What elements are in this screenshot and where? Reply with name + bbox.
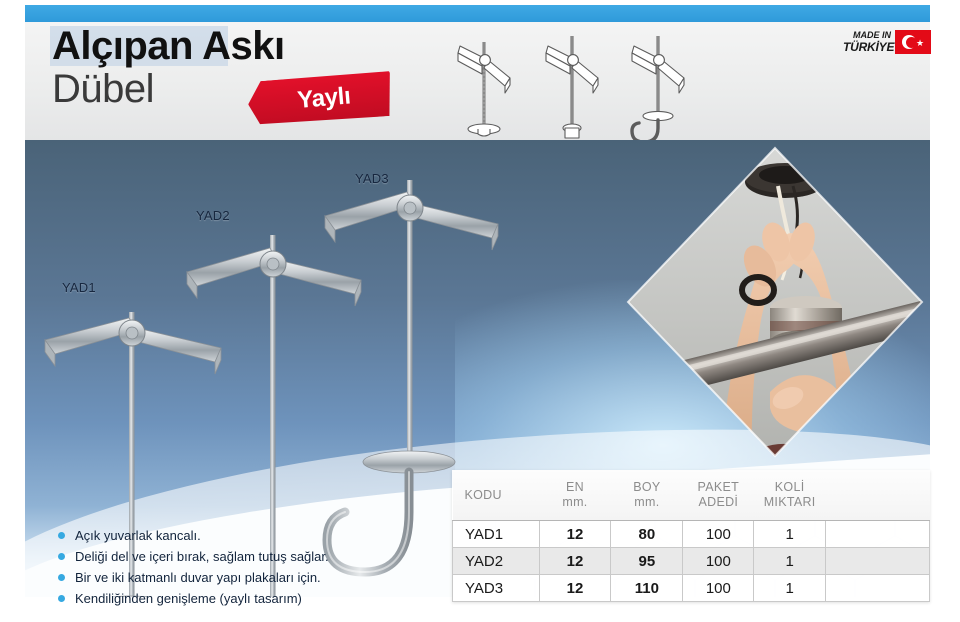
bullet-dot-icon [58,574,65,581]
table-header-row: KODU EN mm. BOY mm. PAKET ADEDİ KOLİ MIK… [453,470,930,521]
cell-koli: 1 [754,521,826,548]
col-header-koli-line2: MIKTARI [764,495,816,509]
feature-list: Açık yuvarlak kancalı. Deliği del ve içe… [58,527,458,611]
cell-paket: 100 [683,548,754,575]
feature-text: Açık yuvarlak kancalı. [75,527,201,544]
page-title-line2: Dübel [52,68,154,110]
cell-koli: 1 [754,548,826,575]
cell-kodu: YAD3 [453,575,540,602]
col-header-kodu: KODU [453,470,540,521]
cell-paket: 100 [683,575,754,602]
cell-koli: 1 [754,575,826,602]
table-row: YAD2 12 95 100 1 [453,548,930,575]
made-in-line2: TÜRKİYE [843,41,891,53]
cell-boy: 80 [611,521,683,548]
cell-paket: 100 [683,521,754,548]
feature-text: Bir ve iki katmanlı duvar yapı plakaları… [75,569,321,586]
col-header-boy: BOY mm. [611,470,683,521]
cell-kodu: YAD1 [453,521,540,548]
col-header-paket-line2: ADEDİ [698,495,738,509]
list-item: Kendiliğinden genişleme (yaylı tasarım) [58,590,458,608]
list-item: Deliği del ve içeri bırak, sağlam tutuş … [58,548,458,566]
flag-star-shape: ★ [916,39,924,48]
cell-blank [825,521,929,548]
col-header-en: EN mm. [539,470,611,521]
made-in-turkiye-badge: MADE IN TÜRKİYE ★ [843,29,931,61]
cell-kodu: YAD2 [453,548,540,575]
feature-text: Deliği del ve içeri bırak, sağlam tutuş … [75,548,329,565]
toggle-bolt-line-drawings [440,28,700,140]
cell-en: 12 [539,521,611,548]
col-header-en-line2: mm. [562,495,587,509]
col-header-kodu-line1: KODU [465,488,502,502]
table-body: YAD1 12 80 100 1 YAD2 12 95 100 1 YAD3 1… [453,521,930,602]
feature-text: Kendiliğinden genişleme (yaylı tasarım) [75,590,302,607]
col-header-en-line1: EN [566,480,584,494]
cell-boy: 95 [611,548,683,575]
table-row: YAD3 12 110 100 1 [453,575,930,602]
table-row: YAD1 12 80 100 1 [453,521,930,548]
bullet-dot-icon [58,595,65,602]
specification-table: KODU EN mm. BOY mm. PAKET ADEDİ KOLİ MIK… [452,470,930,602]
col-header-blank [825,470,929,521]
cell-boy: 110 [611,575,683,602]
col-header-boy-line1: BOY [633,480,660,494]
product-label-yad1: YAD1 [62,280,96,295]
col-header-boy-line2: mm. [634,495,659,509]
turkish-flag-icon: ★ [895,30,931,54]
col-header-koli-line1: KOLİ [775,480,805,494]
table-header: KODU EN mm. BOY mm. PAKET ADEDİ KOLİ MIK… [453,470,930,521]
cell-en: 12 [539,575,611,602]
col-header-koli: KOLİ MIKTARI [754,470,826,521]
bullet-dot-icon [58,553,65,560]
top-accent-bar [25,5,930,22]
cell-blank [825,575,929,602]
product-datasheet: Alçıpan Askı Dübel Yaylı MADE IN TÜRKİYE… [0,0,960,622]
made-in-text: MADE IN TÜRKİYE [843,29,891,53]
list-item: Bir ve iki katmanlı duvar yapı plakaları… [58,569,458,587]
cell-blank [825,548,929,575]
col-header-paket-line1: PAKET [698,480,740,494]
col-header-paket: PAKET ADEDİ [683,470,754,521]
cell-en: 12 [539,548,611,575]
list-item: Açık yuvarlak kancalı. [58,527,458,545]
product-label-yad3: YAD3 [355,171,389,186]
product-label-yad2: YAD2 [196,208,230,223]
page-title-line1: Alçıpan Askı [52,25,285,67]
bullet-dot-icon [58,532,65,539]
